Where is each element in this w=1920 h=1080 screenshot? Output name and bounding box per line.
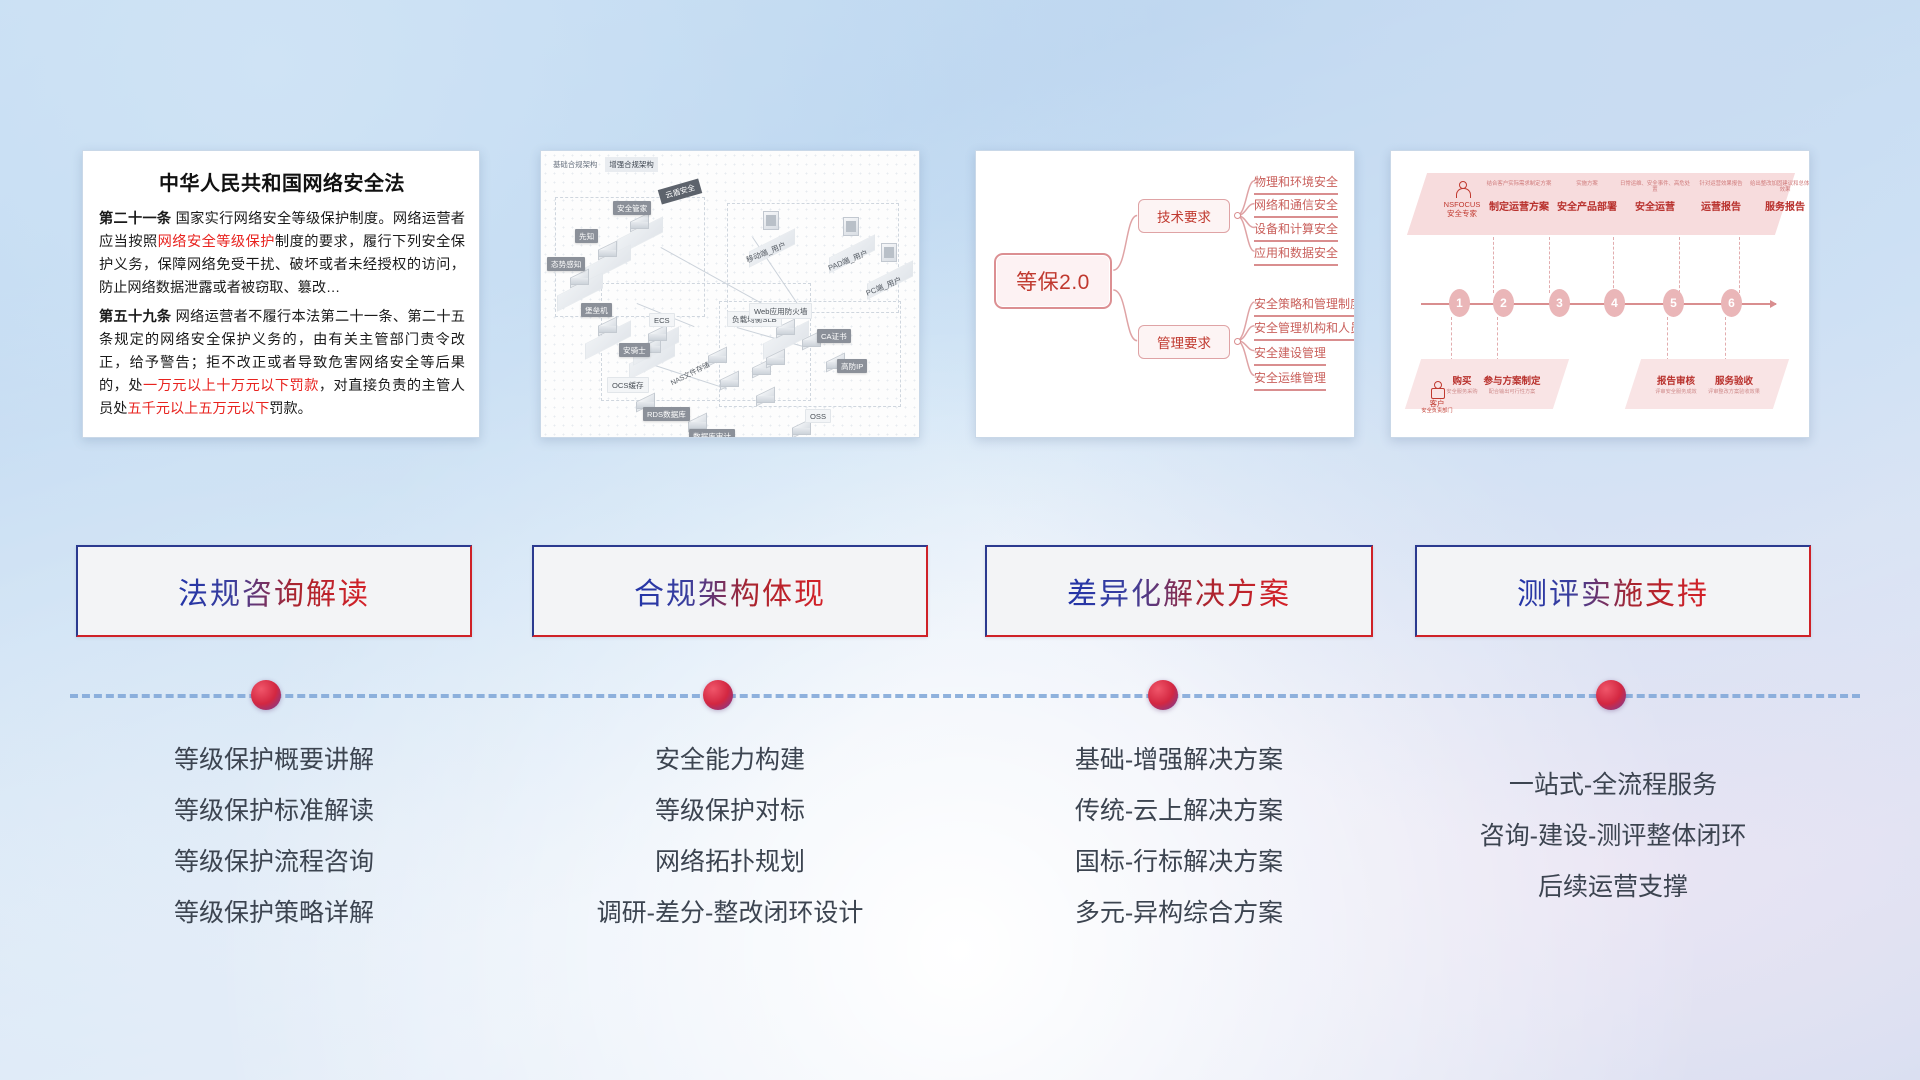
article-59-highlight-1: 一万元以上十万元以下罚款 [143, 378, 319, 394]
upper-step-sub: 给出整改加固建议和总体运营效果 [1749, 181, 1810, 195]
lower-step[interactable]: 参与方案制定 配合输出可行性方案 [1475, 373, 1549, 395]
upper-step[interactable]: 日常运维、安全事件、高危处置 安全运营 [1619, 181, 1691, 213]
lower-step-sub: 配合输出可行性方案 [1475, 389, 1549, 395]
list-item: 多元-异构综合方案 [985, 888, 1373, 939]
upper-step[interactable]: 结合客户实际需求制定方案 制定运营方案 [1483, 181, 1555, 213]
list-item: 调研-差分-整改闭环设计 [532, 888, 928, 939]
upper-step-title: 制定运营方案 [1483, 198, 1555, 213]
list-item: 咨询-建设-测评整体闭环 [1415, 811, 1811, 862]
node-anti-ddos-ip: 高防IP [837, 359, 867, 373]
dash-connector [1613, 237, 1614, 293]
list-item: 基础-增强解决方案 [985, 735, 1373, 786]
node-db-audit: 数据库审计 [689, 429, 735, 438]
timeline-dashed-line [70, 694, 1860, 698]
cards-row: 中华人民共和国网络安全法 第二十一条 国家实行网络安全等级保护制度。网络运营者应… [0, 150, 1920, 440]
node-threat-intel: 先知 [575, 229, 598, 243]
architecture-diagram: 基础合规架构 增强合规架构 云盾安全 安全管家 [541, 151, 919, 437]
mindmap-leaf[interactable]: 安全策略和管理制度 [1254, 295, 1355, 317]
step-number[interactable]: 5 [1663, 289, 1684, 317]
step-number[interactable]: 4 [1604, 289, 1625, 317]
node-ca-certificate: CA证书 [817, 329, 851, 343]
expert-brand: NSFOCUS [1435, 200, 1489, 209]
headline-label: 测评实施支持 [1517, 569, 1709, 613]
mindmap-branch-technical[interactable]: 技术要求 [1138, 199, 1230, 233]
mindmap-leaf[interactable]: 安全运维管理 [1254, 369, 1326, 391]
tab-enhanced-architecture[interactable]: 增强合规架构 [605, 157, 657, 172]
device-icon [877, 243, 901, 269]
list-item: 后续运营支撑 [1415, 862, 1811, 913]
list-item: 网络拓扑规划 [532, 837, 928, 888]
step-number[interactable]: 6 [1721, 289, 1742, 317]
card-mindmap-dengbao[interactable]: 等保2.0 技术要求 管理要求 物理和环境安全 网络和通信安全 设备和计算安全 … [975, 150, 1355, 438]
upper-step-sub: 结合客户实际需求制定方案 [1483, 181, 1555, 195]
upper-step-title: 安全产品部署 [1551, 198, 1623, 213]
upper-step-title: 运营报告 [1685, 198, 1757, 213]
upper-step-sub: 日常运维、安全事件、高危处置 [1619, 181, 1691, 195]
article-21-label: 第二十一条 [99, 211, 171, 227]
node-ecs: ECS [649, 313, 675, 327]
mindmap-leaf[interactable]: 设备和计算安全 [1254, 220, 1338, 242]
timeline-dot-3[interactable] [1148, 680, 1178, 710]
mindmap-branch-management[interactable]: 管理要求 [1138, 325, 1230, 359]
node-ocs-cache: OCS缓存 [607, 377, 649, 393]
mindmap-leaf[interactable]: 安全管理机构和人员 [1254, 319, 1355, 341]
timeline-dot-1[interactable] [251, 680, 281, 710]
mindmap-leaf[interactable]: 物理和环境安全 [1254, 173, 1338, 195]
node-oss: OSS [805, 409, 831, 423]
customer-name: 客户 [1415, 399, 1459, 408]
customer-dept: 安全负责部门 [1415, 408, 1459, 415]
dash-connector [1679, 237, 1680, 293]
expert-band-content: NSFOCUS 安全专家 结合客户实际需求制定方案 制定运营方案 实施方案 安全… [1417, 173, 1785, 235]
cube-icon [645, 325, 671, 345]
list-item: 国标-行标解决方案 [985, 837, 1373, 888]
detail-list-regulation-consulting: 等级保护概要讲解 等级保护标准解读 等级保护流程咨询 等级保护策略详解 [76, 735, 472, 939]
list-item: 一站式-全流程服务 [1415, 760, 1811, 811]
service-process-diagram: NSFOCUS 安全专家 结合客户实际需求制定方案 制定运营方案 实施方案 安全… [1391, 151, 1809, 437]
dash-connector [1493, 237, 1494, 293]
node-jump-host: 堡垒机 [581, 303, 612, 317]
architecture-tabs[interactable]: 基础合规架构 增强合规架构 [549, 157, 658, 172]
poster-canvas: 中华人民共和国网络安全法 第二十一条 国家实行网络安全等级保护制度。网络运营者应… [0, 0, 1920, 1080]
headline-label: 差异化解决方案 [1067, 569, 1291, 613]
cube-icon [627, 213, 653, 233]
upper-step-title: 服务报告 [1749, 198, 1810, 213]
article-59-label: 第五十九条 [99, 309, 171, 325]
node-rds-database: RDS数据库 [643, 407, 690, 421]
card-compliance-architecture[interactable]: 基础合规架构 增强合规架构 云盾安全 安全管家 [540, 150, 920, 438]
upper-step-title: 安全运营 [1619, 198, 1691, 213]
article-21-highlight: 网络安全等级保护 [158, 234, 275, 250]
lower-step-title: 参与方案制定 [1475, 373, 1549, 387]
list-item: 传统-云上解决方案 [985, 786, 1373, 837]
lower-step-title: 服务验收 [1697, 373, 1771, 387]
mindmap-root-node[interactable]: 等保2.0 [994, 253, 1112, 309]
list-item: 等级保护策略详解 [76, 888, 472, 939]
card-cybersecurity-law[interactable]: 中华人民共和国网络安全法 第二十一条 国家实行网络安全等级保护制度。网络运营者应… [82, 150, 480, 438]
mindmap: 等保2.0 技术要求 管理要求 物理和环境安全 网络和通信安全 设备和计算安全 … [976, 151, 1354, 437]
detail-list-compliance-architecture: 安全能力构建 等级保护对标 网络拓扑规划 调研-差分-整改闭环设计 [532, 735, 928, 939]
upper-step-sub: 针对运营效果报告 [1685, 181, 1757, 195]
article-59-text-3: 罚款。 [269, 401, 312, 417]
step-number[interactable]: 1 [1449, 289, 1470, 317]
headline-label: 合规架构体现 [634, 569, 826, 613]
law-title: 中华人民共和国网络安全法 [99, 167, 465, 196]
card-service-timeline[interactable]: NSFOCUS 安全专家 结合客户实际需求制定方案 制定运营方案 实施方案 安全… [1390, 150, 1810, 438]
list-item: 等级保护流程咨询 [76, 837, 472, 888]
headline-buttons-row: 法规咨询解读 合规架构体现 差异化解决方案 测评实施支持 [0, 545, 1920, 645]
list-item: 等级保护标准解读 [76, 786, 472, 837]
law-article-21: 第二十一条 国家实行网络安全等级保护制度。网络运营者应当按照网络安全等级保护制度… [99, 208, 465, 300]
dash-connector [1549, 237, 1550, 293]
node-waf: Web应用防火墙 [749, 303, 812, 319]
step-number[interactable]: 2 [1493, 289, 1514, 317]
mindmap-collapse-dot[interactable] [1234, 212, 1241, 219]
expert-person-icon [1456, 181, 1469, 198]
timeline-dot-4[interactable] [1596, 680, 1626, 710]
detail-list-assessment-support: 一站式-全流程服务 咨询-建设-测评整体闭环 后续运营支撑 [1415, 760, 1811, 913]
device-icon [759, 211, 783, 237]
cube-icon [717, 371, 743, 391]
cube-icon [595, 241, 621, 261]
mindmap-collapse-dot[interactable] [1234, 338, 1241, 345]
dash-connector [1739, 237, 1740, 293]
list-item: 等级保护概要讲解 [76, 735, 472, 786]
headline-button-compliance-architecture[interactable]: 合规架构体现 [532, 545, 928, 637]
headline-button-differentiated-solution[interactable]: 差异化解决方案 [985, 545, 1373, 637]
device-icon [839, 217, 863, 243]
expert-role: 安全专家 [1435, 209, 1489, 218]
mindmap-leaf[interactable]: 应用和数据安全 [1254, 244, 1338, 266]
law-article-59: 第五十九条 网络运营者不履行本法第二十一条、第二十五条规定的网络安全保护义务的，… [99, 306, 465, 421]
dash-connector [1667, 317, 1668, 361]
node-security-agent: 安骑士 [619, 343, 650, 357]
headline-button-assessment-support[interactable]: 测评实施支持 [1415, 545, 1811, 637]
headline-label: 法规咨询解读 [178, 569, 370, 613]
upper-step[interactable]: 实施方案 安全产品部署 [1551, 181, 1623, 213]
dash-connector [1451, 317, 1452, 361]
headline-button-regulation-consulting[interactable]: 法规咨询解读 [76, 545, 472, 637]
mindmap-leaf[interactable]: 网络和通信安全 [1254, 196, 1338, 218]
mindmap-leaf[interactable]: 安全建设管理 [1254, 344, 1326, 366]
article-59-highlight-2: 五千元以上五万元以下 [127, 401, 269, 417]
list-item: 安全能力构建 [532, 735, 928, 786]
lower-step-sub: 评审整改方案验收效果 [1697, 389, 1771, 395]
cube-icon [567, 269, 593, 289]
upper-step[interactable]: 针对运营效果报告 运营报告 [1685, 181, 1757, 213]
cube-icon [595, 317, 621, 337]
upper-step[interactable]: 给出整改加固建议和总体运营效果 服务报告 [1749, 181, 1810, 213]
dash-connector [1497, 317, 1498, 361]
step-number[interactable]: 3 [1549, 289, 1570, 317]
node-security-butler: 安全管家 [613, 201, 651, 215]
upper-step-sub: 实施方案 [1551, 181, 1623, 195]
list-item: 等级保护对标 [532, 786, 928, 837]
nsfocus-expert-label: NSFOCUS 安全专家 [1435, 181, 1489, 219]
cube-icon [763, 349, 789, 369]
timeline-dot-2[interactable] [703, 680, 733, 710]
detail-list-differentiated-solution: 基础-增强解决方案 传统-云上解决方案 国标-行标解决方案 多元-异构综合方案 [985, 735, 1373, 939]
node-situation-awareness: 态势感知 [547, 257, 585, 271]
dash-connector [1725, 317, 1726, 361]
cube-icon [753, 387, 779, 407]
tab-basic-architecture[interactable]: 基础合规架构 [549, 157, 601, 172]
lower-step[interactable]: 服务验收 评审整改方案验收效果 [1697, 373, 1771, 395]
